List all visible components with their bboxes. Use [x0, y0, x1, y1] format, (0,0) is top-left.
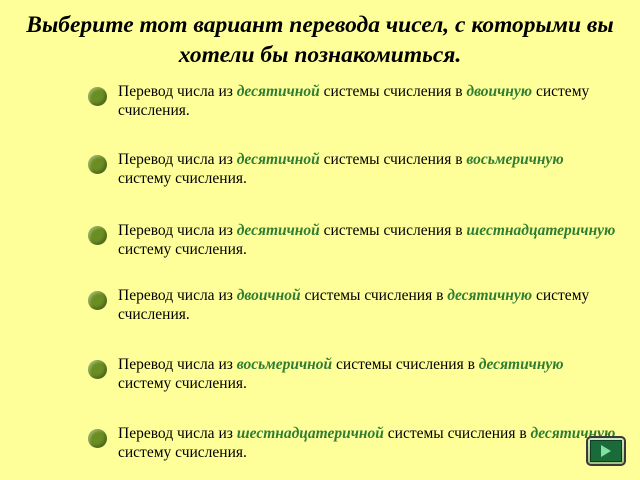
list-item[interactable]: Перевод числа из восьмеричной системы сч… — [80, 355, 620, 403]
page-title: Выберите тот вариант перевода чисел, с к… — [26, 10, 614, 70]
list-item[interactable]: Перевод числа из десятичной системы счис… — [80, 150, 620, 198]
slide-canvas: Выберите тот вариант перевода чисел, с к… — [0, 0, 640, 480]
list-item[interactable]: Перевод числа из десятичной системы счис… — [80, 82, 620, 130]
list-item-text: Перевод числа из десятичной системы счис… — [118, 83, 589, 119]
list-item[interactable]: Перевод числа из шестнадцатеричной систе… — [80, 424, 620, 472]
bullet-icon — [88, 155, 107, 174]
list-item-text: Перевод числа из десятичной системы счис… — [118, 222, 615, 258]
bullet-icon — [88, 429, 107, 448]
options-list: Перевод числа из десятичной системы счис… — [80, 82, 620, 472]
bullet-icon — [88, 87, 107, 106]
next-arrow-icon — [590, 440, 622, 462]
bullet-icon — [88, 226, 107, 245]
list-item[interactable]: Перевод числа из десятичной системы счис… — [80, 221, 620, 269]
list-item-text: Перевод числа из десятичной системы счис… — [118, 151, 564, 187]
list-item[interactable]: Перевод числа из двоичной системы счисле… — [80, 286, 620, 334]
list-item-text: Перевод числа из шестнадцатеричной систе… — [118, 425, 615, 461]
next-slide-button[interactable] — [586, 436, 626, 466]
bullet-icon — [88, 360, 107, 379]
list-item-text: Перевод числа из восьмеричной системы сч… — [118, 356, 564, 392]
bullet-icon — [88, 291, 107, 310]
list-item-text: Перевод числа из двоичной системы счисле… — [118, 287, 589, 323]
